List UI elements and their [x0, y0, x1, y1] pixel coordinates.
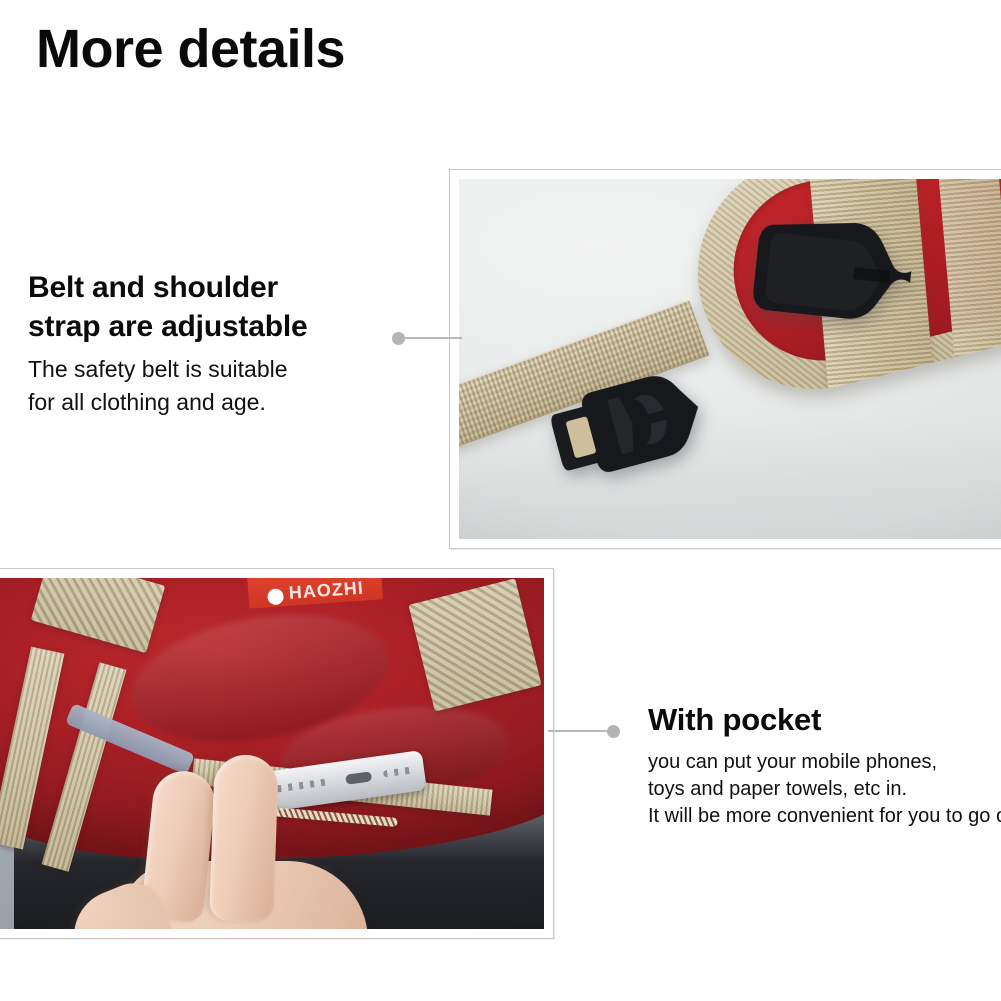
callout-belt-and-shoulder-strap: Belt and shoulder strap are adjustable T…	[28, 268, 388, 419]
photo-pocket-detail: HAOZHI	[0, 578, 544, 929]
headline-line: strap are adjustable	[28, 307, 388, 346]
connector-belt	[392, 329, 462, 347]
brand-mark-icon	[267, 588, 284, 605]
photo-buckle-detail	[459, 179, 1001, 539]
photo-frame-buckle	[449, 169, 1001, 549]
body-line: for all clothing and age.	[28, 386, 388, 419]
connector-line	[402, 337, 462, 339]
body-line: you can put your mobile phones,	[648, 749, 998, 776]
headline-line: Belt and shoulder	[28, 268, 388, 307]
finger	[209, 754, 279, 922]
body-line: It will be more convenient for you to go…	[648, 803, 998, 830]
brand-label-text: HAOZHI	[288, 578, 364, 604]
photo-frame-pocket: HAOZHI	[0, 568, 554, 939]
female-buckle-icon	[748, 197, 921, 343]
connector-dot	[607, 725, 620, 738]
connector-line	[548, 730, 610, 732]
body-line: toys and paper towels, etc in.	[648, 776, 998, 803]
connector-pocket	[548, 722, 620, 740]
callout-with-pocket: With pocket you can put your mobile phon…	[648, 700, 998, 830]
page-title: More details	[36, 18, 345, 80]
callout-headline: Belt and shoulder strap are adjustable	[28, 268, 388, 346]
infographic-page: More details	[0, 0, 1001, 1001]
headline-line: With pocket	[648, 700, 998, 740]
hand	[100, 737, 400, 929]
callout-body: The safety belt is suitable for all clot…	[28, 353, 388, 419]
callout-body: you can put your mobile phones, toys and…	[648, 749, 998, 830]
callout-headline: With pocket	[648, 700, 998, 740]
body-line: The safety belt is suitable	[28, 353, 388, 386]
